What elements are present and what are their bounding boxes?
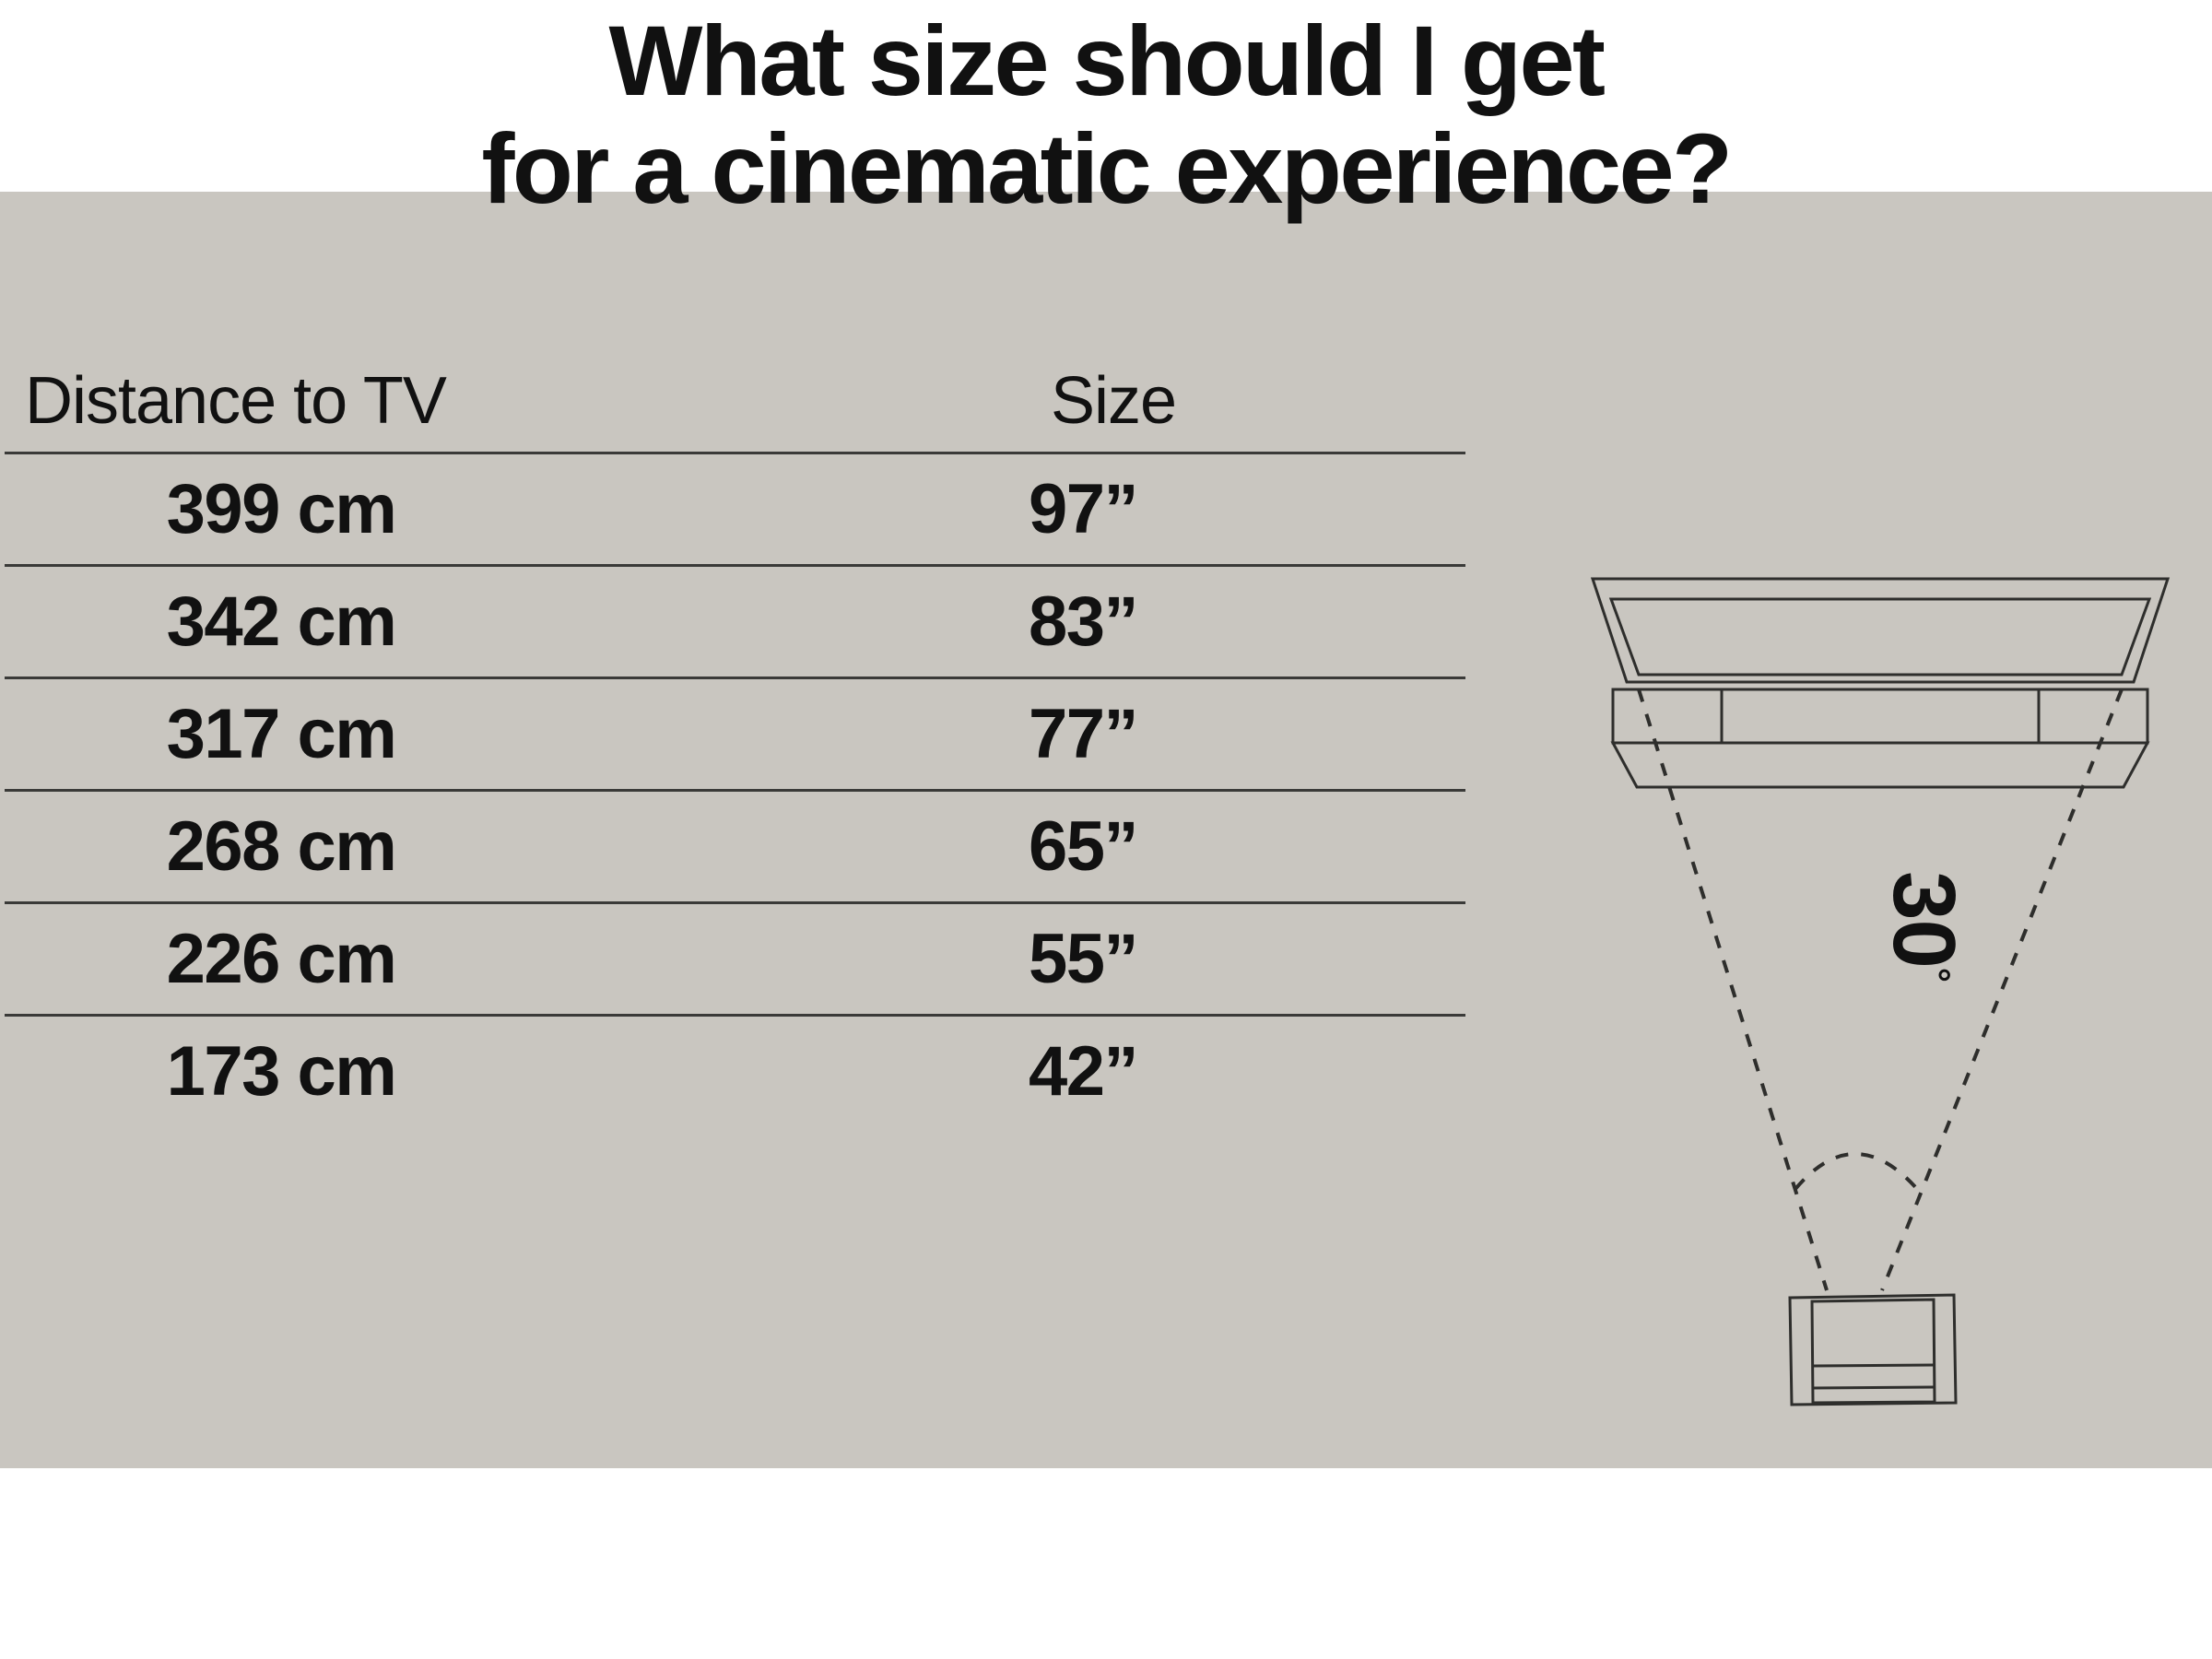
cell-distance: 342 cm	[5, 567, 558, 677]
cell-size: 77”	[945, 679, 1221, 789]
cell-distance: 173 cm	[5, 1017, 558, 1126]
column-header-size: Size	[1051, 350, 1176, 452]
cell-size: 42”	[945, 1017, 1221, 1126]
viewing-angle-label: 30°	[1783, 871, 1968, 982]
cell-distance: 268 cm	[5, 792, 558, 901]
infographic-stage: What size should I get for a cinematic e…	[0, 0, 2212, 1659]
cell-distance: 226 cm	[5, 904, 558, 1014]
tv-screen-icon	[1593, 579, 2168, 682]
cell-distance: 399 cm	[5, 454, 558, 564]
table-row: 317 cm 77”	[5, 679, 1465, 789]
table-row: 342 cm 83”	[5, 567, 1465, 677]
page-title: What size should I get for a cinematic e…	[0, 7, 2212, 222]
viewing-angle-diagram	[1558, 553, 2203, 1465]
table-row: 399 cm 97”	[5, 454, 1465, 564]
degree-symbol-icon: °	[1916, 968, 1957, 982]
cell-distance: 317 cm	[5, 679, 558, 789]
page-title-line-1: What size should I get	[0, 7, 2212, 115]
cell-size: 97”	[945, 454, 1221, 564]
angle-arc	[1795, 1154, 1917, 1189]
size-distance-table: Distance to TV Size 399 cm 97” 342 cm 83…	[5, 350, 1465, 1126]
table-row: 226 cm 55”	[5, 904, 1465, 1014]
table-row: 173 cm 42”	[5, 1017, 1465, 1126]
cell-size: 83”	[945, 567, 1221, 677]
sofa-icon	[1790, 1295, 1956, 1405]
viewing-angle-cone	[1639, 689, 2122, 1290]
page-title-line-2: for a cinematic experience?	[0, 115, 2212, 223]
table-header-row: Distance to TV Size	[5, 350, 1465, 452]
viewing-angle-value: 30	[1875, 871, 1973, 968]
cell-size: 65”	[945, 792, 1221, 901]
table-row: 268 cm 65”	[5, 792, 1465, 901]
column-header-distance: Distance to TV	[25, 350, 446, 452]
tv-body-icon	[1613, 675, 2147, 787]
cell-size: 55”	[945, 904, 1221, 1014]
